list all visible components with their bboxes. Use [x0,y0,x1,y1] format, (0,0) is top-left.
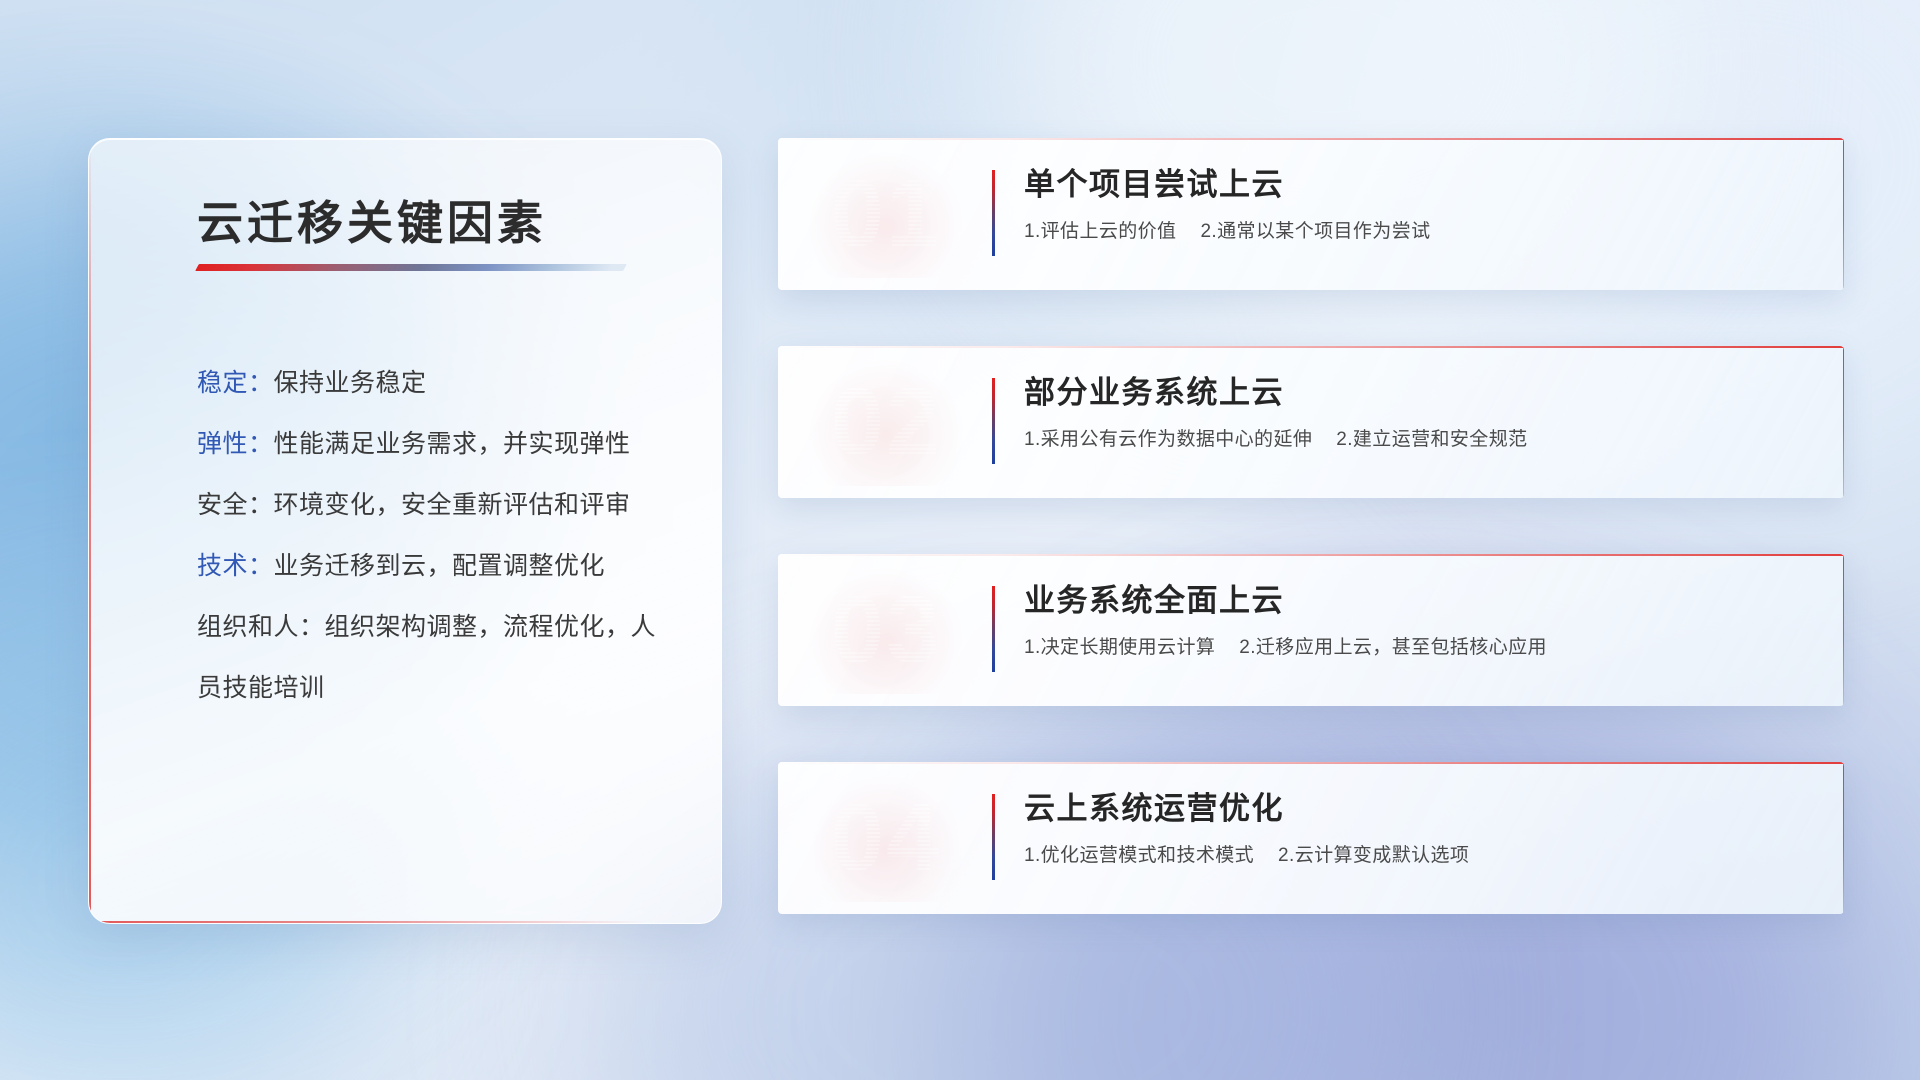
stage-number: 02 [806,358,966,486]
stage-description-item-1: 1.决定长期使用云计算 [1024,637,1215,658]
stage-description-item-2: 2.迁移应用上云，甚至包括核心应用 [1239,637,1547,658]
stage-card[interactable]: 04云上系统运营优化1.优化运营模式和技术模式2.云计算变成默认选项 [778,762,1844,914]
stage-description-item-2: 2.建立运营和安全规范 [1336,429,1527,450]
factor-text: 业务迁移到云，配置调整优化 [274,552,606,580]
stage-description-item-2: 2.通常以某个项目作为尝试 [1200,221,1430,242]
factor-label: 技术： [197,552,274,580]
stage-description: 1.决定长期使用云计算2.迁移应用上云，甚至包括核心应用 [1024,634,1810,662]
factor-label: 组织和人： [197,613,325,641]
stage-divider-bar [992,170,995,256]
factor-text: 保持业务稳定 [274,369,427,397]
factor-row: 技术：业务迁移到云，配置调整优化 [197,536,679,597]
stage-description-item-1: 1.采用公有云作为数据中心的延伸 [1024,429,1312,450]
stage-title: 单个项目尝试上云 [1024,162,1810,208]
factor-list: 稳定：保持业务稳定弹性：性能满足业务需求，并实现弹性安全：环境变化，安全重新评估… [197,353,679,719]
stage-title: 云上系统运营优化 [1024,786,1810,832]
stage-number: 04 [806,774,966,902]
stage-description-item-1: 1.优化运营模式和技术模式 [1024,845,1254,866]
slide-canvas: 云迁移关键因素 稳定：保持业务稳定弹性：性能满足业务需求，并实现弹性安全：环境变… [0,0,1920,1080]
stage-card-body: 云上系统运营优化1.优化运营模式和技术模式2.云计算变成默认选项 [1024,786,1810,870]
factor-label: 稳定： [197,369,274,397]
stage-divider-bar [992,794,995,880]
stage-description: 1.采用公有云作为数据中心的延伸2.建立运营和安全规范 [1024,426,1810,454]
stage-number: 03 [806,566,966,694]
stage-divider-bar [992,378,995,464]
factor-label: 弹性： [197,430,274,458]
key-factors-panel: 云迁移关键因素 稳定：保持业务稳定弹性：性能满足业务需求，并实现弹性安全：环境变… [88,138,722,924]
factor-text: 环境变化，安全重新评估和评审 [274,491,631,519]
stage-card-body: 业务系统全面上云1.决定长期使用云计算2.迁移应用上云，甚至包括核心应用 [1024,578,1810,662]
stage-description-item-1: 1.评估上云的价值 [1024,221,1176,242]
stage-title: 业务系统全面上云 [1024,578,1810,624]
factor-text: 性能满足业务需求，并实现弹性 [274,430,631,458]
stage-description: 1.评估上云的价值2.通常以某个项目作为尝试 [1024,218,1810,246]
factor-row: 稳定：保持业务稳定 [197,353,679,414]
stage-description: 1.优化运营模式和技术模式2.云计算变成默认选项 [1024,842,1810,870]
factor-row: 弹性：性能满足业务需求，并实现弹性 [197,414,679,475]
factor-row: 安全：环境变化，安全重新评估和评审 [197,475,679,536]
stage-card[interactable]: 01单个项目尝试上云1.评估上云的价值2.通常以某个项目作为尝试 [778,138,1844,290]
stage-number: 01 [806,150,966,278]
stage-title: 部分业务系统上云 [1024,370,1810,416]
title-underline-accent [195,264,627,271]
stage-card[interactable]: 02部分业务系统上云1.采用公有云作为数据中心的延伸2.建立运营和安全规范 [778,346,1844,498]
stage-divider-bar [992,586,995,672]
page-title: 云迁移关键因素 [197,187,547,253]
stage-card[interactable]: 03业务系统全面上云1.决定长期使用云计算2.迁移应用上云，甚至包括核心应用 [778,554,1844,706]
stage-description-item-2: 2.云计算变成默认选项 [1278,845,1469,866]
stage-card-body: 单个项目尝试上云1.评估上云的价值2.通常以某个项目作为尝试 [1024,162,1810,246]
factor-label: 安全： [197,491,274,519]
migration-stage-card-list: 01单个项目尝试上云1.评估上云的价值2.通常以某个项目作为尝试02部分业务系统… [778,138,1844,970]
factor-row: 组织和人：组织架构调整，流程优化，人员技能培训 [197,597,679,719]
stage-card-body: 部分业务系统上云1.采用公有云作为数据中心的延伸2.建立运营和安全规范 [1024,370,1810,454]
